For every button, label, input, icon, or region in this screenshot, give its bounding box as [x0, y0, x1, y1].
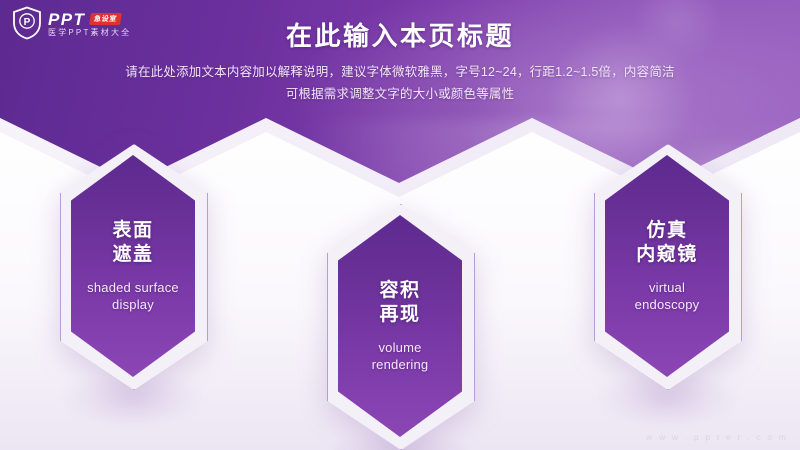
hex-card-subtitle-2: volume rendering	[372, 340, 429, 373]
hex-card-title-2-line1: 容积	[379, 279, 420, 303]
hex-card-content-1: 表面 遮盖 shaded surface display	[60, 144, 206, 388]
hex-card-subtitle-2-line2: rendering	[372, 357, 429, 374]
hex-card-title-2-line2: 再现	[379, 303, 420, 327]
hex-card-subtitle-1: shaded surface display	[87, 280, 179, 313]
page-title: 在此输入本页标题	[0, 16, 800, 53]
hex-card-subtitle-1-line1: shaded surface	[87, 280, 179, 297]
hex-card-subtitle-1-line2: display	[87, 297, 179, 314]
slide: P PPT 急设室 医学PPT素材大全 在此输入本页标题 请在此处添加文本内容加…	[0, 0, 800, 450]
hex-card-title-1-line1: 表面	[112, 219, 153, 243]
hex-card-subtitle-3-line2: endoscopy	[635, 297, 700, 314]
subtitle-line-1: 请在此处添加文本内容加以解释说明，建议字体微软雅黑，字号12~24，行距1.2~…	[0, 62, 800, 84]
hex-card-virtual-endoscopy[interactable]: 仿真 内窥镜 virtual endoscopy	[594, 144, 740, 388]
hex-card-shaded-surface-display[interactable]: 表面 遮盖 shaded surface display	[60, 144, 206, 388]
subtitle-line-2: 可根据需求调整文字的大小或颜色等属性	[0, 84, 800, 106]
hex-card-subtitle-2-line1: volume	[372, 340, 429, 357]
hex-card-title-1-line2: 遮盖	[112, 243, 153, 267]
hex-card-title-2: 容积 再现	[379, 279, 420, 328]
hex-card-title-3-line2: 内窥镜	[636, 243, 698, 267]
hex-card-title-1: 表面 遮盖	[112, 219, 153, 268]
hex-card-subtitle-3: virtual endoscopy	[635, 280, 700, 313]
hex-card-subtitle-3-line1: virtual	[635, 280, 700, 297]
page-subtitle: 请在此处添加文本内容加以解释说明，建议字体微软雅黑，字号12~24，行距1.2~…	[0, 62, 800, 106]
hex-card-title-3: 仿真 内窥镜	[636, 219, 698, 268]
hex-card-volume-rendering[interactable]: 容积 再现 volume rendering	[327, 204, 473, 448]
footer-watermark: w w w . p p t e r . c o m	[646, 432, 788, 442]
hex-card-content-3: 仿真 内窥镜 virtual endoscopy	[594, 144, 740, 388]
hex-card-title-3-line1: 仿真	[636, 219, 698, 243]
hex-card-content-2: 容积 再现 volume rendering	[327, 204, 473, 448]
